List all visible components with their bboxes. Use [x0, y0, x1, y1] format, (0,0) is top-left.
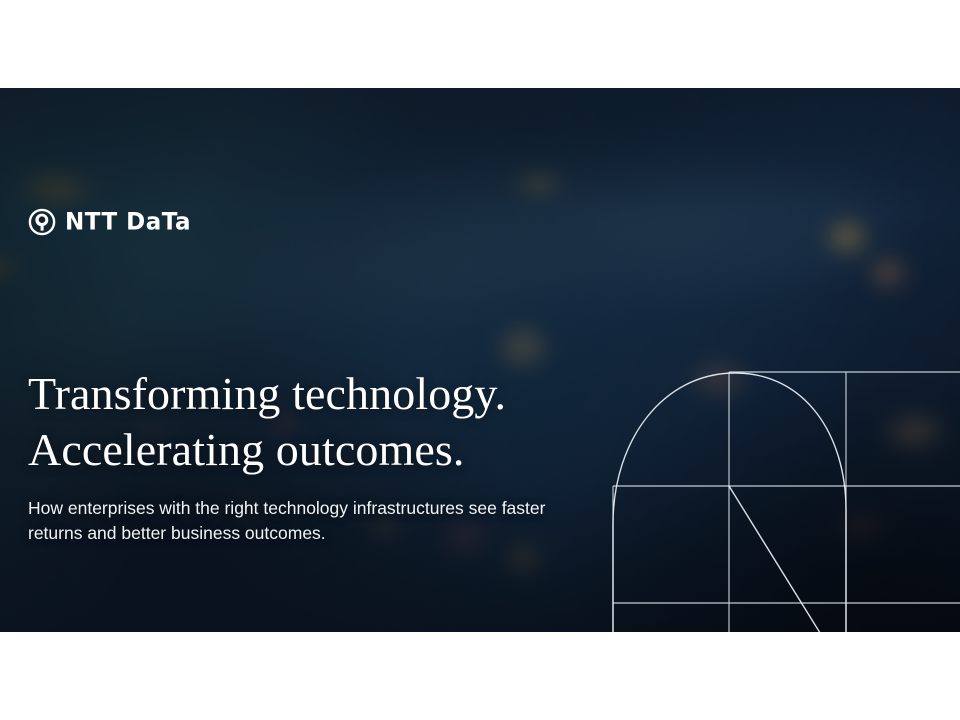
ntt-data-circle-mark-icon: [28, 208, 56, 236]
hero-banner: NTT DaTa Transforming technology. Accele…: [0, 88, 960, 632]
page-root: NTT DaTa Transforming technology. Accele…: [0, 0, 960, 720]
hero-subcopy: How enterprises with the right technolog…: [28, 496, 600, 546]
hero-copy-block: Transforming technology. Accelerating ou…: [28, 366, 628, 546]
hero-background-photo: [0, 88, 960, 632]
ntt-data-wordmark: NTT DaTa: [65, 210, 191, 234]
headline-line-2: Accelerating outcomes.: [28, 422, 628, 478]
headline-line-1: Transforming technology.: [28, 366, 628, 422]
ntt-data-logo[interactable]: NTT DaTa: [28, 207, 191, 237]
